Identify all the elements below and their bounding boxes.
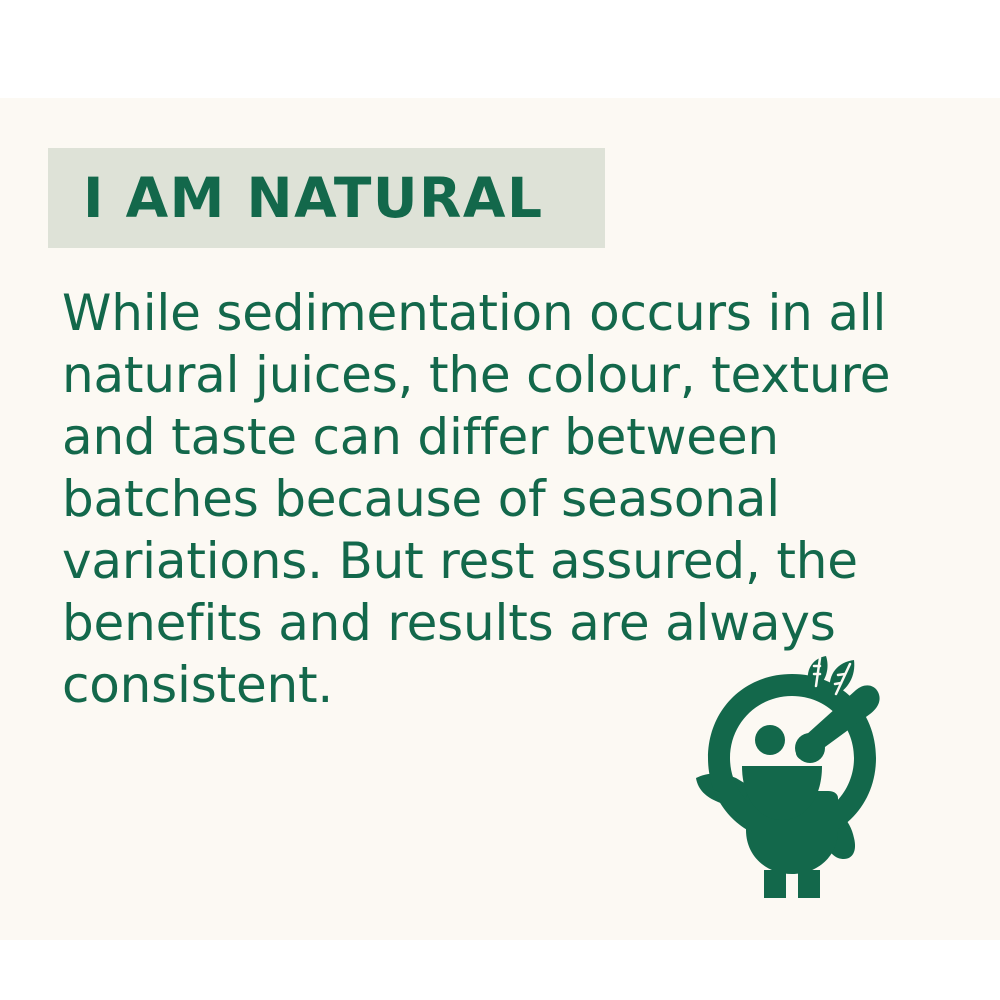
mascot-left-eye-icon [755,725,785,755]
promo-card: I AM NATURAL While sedimentation occurs … [0,0,1000,1000]
heading-highlight-box: I AM NATURAL [48,148,605,248]
body-line-6: benefits and results are always [62,592,932,654]
body-line-2: natural juices, the colour, texture [62,344,932,406]
page-title: I AM NATURAL [83,164,544,232]
mascot-right-leg-icon [798,870,820,898]
body-line-3: and taste can differ between [62,406,932,468]
body-line-4: batches because of seasonal [62,468,932,530]
smiling-sprout-character-logo-icon [688,648,912,900]
body-line-5: variations. But rest assured, the [62,530,932,592]
body-line-1: While sedimentation occurs in all [62,282,932,344]
mascot-left-leg-icon [764,870,786,898]
